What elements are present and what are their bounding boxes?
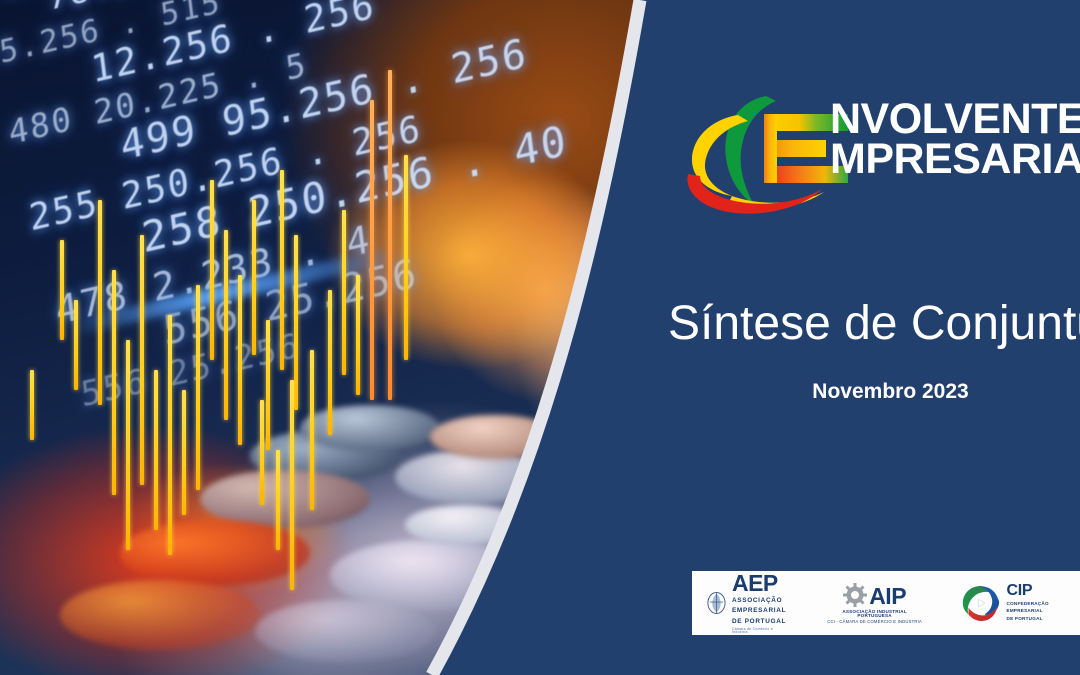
aep-acronym: AEP [732,572,787,595]
aip-line2: CCI - CÂMARA DE COMÉRCIO E INDÚSTRIA [827,620,922,624]
brand-logo-line2: MPRESARIAL [830,140,1080,180]
cip-acronym: CIP [1007,583,1080,599]
cip-text-block: CIP CONFEDERAÇÃO EMPRESARIAL DE PORTUGAL [1007,583,1080,624]
title-slide: 4.128 66.440 78.241 . 32 25.256 . 515 12… [0,0,1080,675]
aip-gear-icon [842,582,868,608]
partner-logo-aip: AIP ASSOCIAÇÃO INDUSTRIAL PORTUGUESA CCI… [827,582,922,624]
aip-text-block: AIP ASSOCIAÇÃO INDUSTRIAL PORTUGUESA CCI… [827,582,922,624]
cip-line1: CONFEDERAÇÃO EMPRESARIAL [1007,601,1080,615]
partner-logo-aep: AEP ASSOCIAÇÃO EMPRESARIAL DE PORTUGAL C… [706,572,787,635]
aip-acronym: AIP [869,585,906,608]
aep-text-block: AEP ASSOCIAÇÃO EMPRESARIAL DE PORTUGAL C… [732,572,787,635]
cip-swirl-icon [960,581,1002,625]
bar-chart-overlay [0,330,560,675]
partner-logo-cip: CIP CONFEDERAÇÃO EMPRESARIAL DE PORTUGAL [960,581,1080,625]
page-title: Síntese de Conjuntura [668,296,1080,351]
aep-line1: ASSOCIAÇÃO [732,597,787,606]
envolvente-empresarial-e-mark [678,88,853,218]
page-subtitle: Novembro 2023 [668,380,1080,404]
aep-line2: EMPRESARIAL [732,607,787,616]
cip-line2: DE PORTUGAL [1007,616,1080,623]
aep-line3: DE PORTUGAL [732,618,787,627]
brand-logo-line1: NVOLVENTE [830,100,1080,140]
brand-logo-text: NVOLVENTE MPRESARIAL [830,100,1080,179]
hero-image: 4.128 66.440 78.241 . 32 25.256 . 515 12… [0,0,700,675]
aip-line1: ASSOCIAÇÃO INDUSTRIAL PORTUGUESA [827,610,922,619]
aep-line4: Câmara de Comércio e Indústria [732,628,787,635]
aep-crest-icon [706,590,727,616]
brand-logo: NVOLVENTE MPRESARIAL [678,88,1080,218]
partner-logo-bar: AEP ASSOCIAÇÃO EMPRESARIAL DE PORTUGAL C… [692,571,1080,635]
